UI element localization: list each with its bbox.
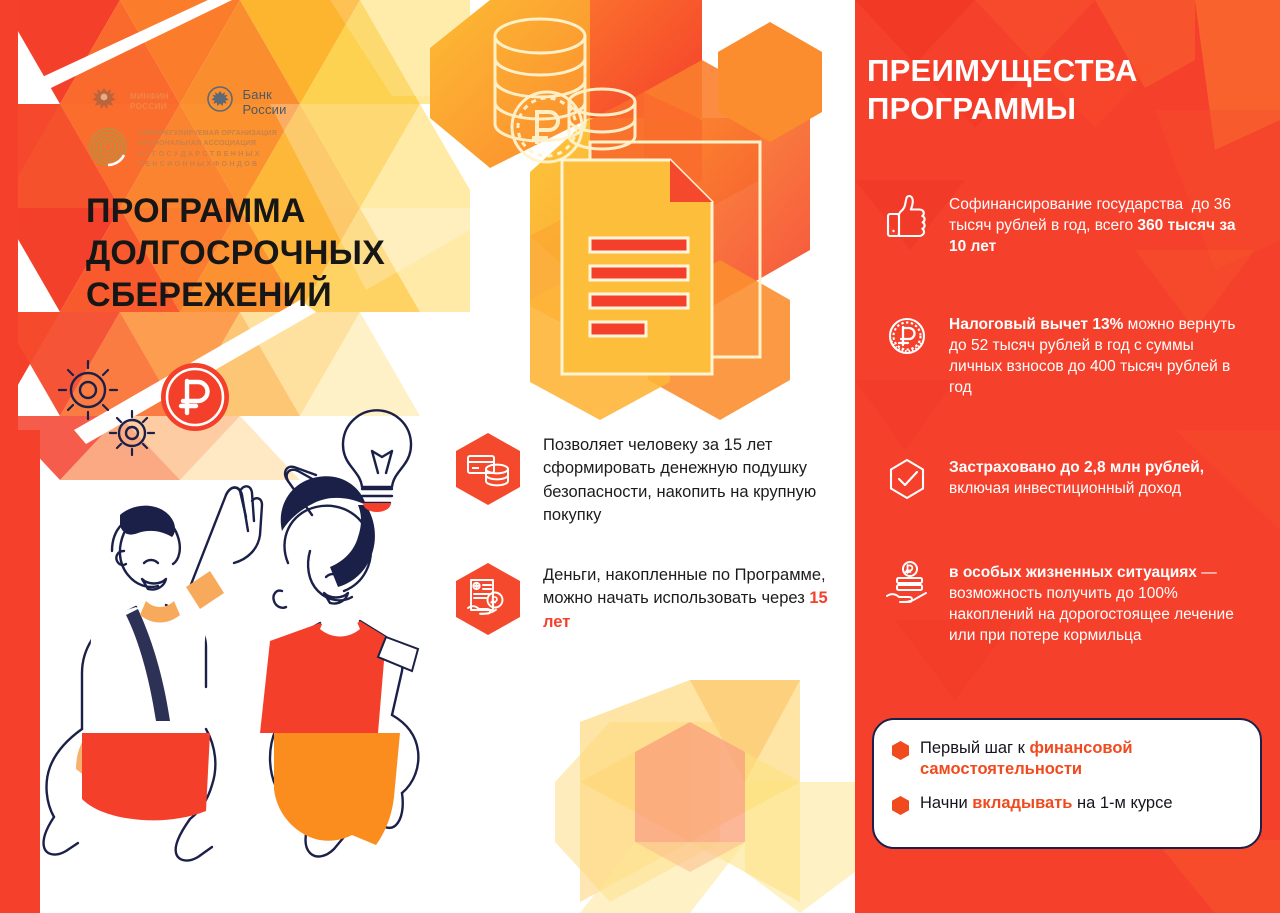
ruble-coin-icon bbox=[885, 312, 931, 364]
bottom-center-mosaic-background bbox=[480, 660, 900, 913]
feature-text: Деньги, накопленные по Программе, можно … bbox=[543, 562, 835, 634]
napf-logo-label: САМОРЕГУЛИРУЕМАЯ ОРГАНИЗАЦИЯ НАЦИОНАЛЬНА… bbox=[138, 129, 277, 170]
page-title: ПРОГРАММА ДОЛГОСРОЧНЫХ СБЕРЕЖЕНИЙ bbox=[86, 190, 486, 316]
logo-group: МИНФИН РОССИИ Банк России bbox=[88, 84, 318, 170]
benefit-text: Налоговый вычет 13% можно вернуть до 52 … bbox=[949, 312, 1237, 398]
hand-with-coins-ruble-icon bbox=[885, 560, 931, 612]
feature-item-access-after-15-years: Деньги, накопленные по Программе, можно … bbox=[455, 562, 835, 636]
hand-with-document-ruble-hex-icon bbox=[455, 562, 521, 636]
two-jumping-students-graphic bbox=[20, 355, 440, 913]
benefit-text: в особых жизненных ситуациях — возможнос… bbox=[949, 560, 1237, 646]
benefit-item-special-situations: в особых жизненных ситуациях — возможнос… bbox=[885, 560, 1237, 646]
feature-item-safety-cushion: Позволяет человеку за 15 лет сформироват… bbox=[455, 432, 835, 528]
callout-item: Начни вкладывать на 1-м курсе bbox=[892, 793, 1240, 815]
callout-item: Первый шаг к финансовой самостоятельност… bbox=[892, 738, 1240, 781]
feature-text: Позволяет человеку за 15 лет сформироват… bbox=[543, 432, 835, 528]
cbr-eagle-emblem-icon bbox=[207, 86, 233, 117]
hexagon-bullet-icon bbox=[892, 741, 909, 760]
benefit-item-tax-deduction: Налоговый вычет 13% можно вернуть до 52 … bbox=[885, 312, 1237, 398]
benefits-title-text: ПРЕИМУЩЕСТВА ПРОГРАММЫ bbox=[867, 52, 1237, 128]
thumbs-up-icon bbox=[885, 192, 931, 244]
callout-text: Начни вкладывать на 1-м курсе bbox=[920, 793, 1173, 814]
center-documents-graphic bbox=[430, 0, 870, 420]
benefit-item-cofinancing: Софинансирование государства до 36 тысяч… bbox=[885, 192, 1237, 257]
callout-text: Первый шаг к финансовой самостоятельност… bbox=[920, 738, 1240, 781]
benefit-item-insured: Застраховано до 2,8 млн рублей, включая … bbox=[885, 455, 1237, 507]
benefits-panel-title: ПРЕИМУЩЕСТВА ПРОГРАММЫ bbox=[867, 52, 1237, 128]
hexagon-bullet-icon bbox=[892, 796, 909, 815]
double-eagle-emblem-icon bbox=[88, 84, 120, 119]
benefit-text: Софинансирование государства до 36 тысяч… bbox=[949, 192, 1237, 257]
cbr-logo-label: Банк России bbox=[243, 87, 318, 117]
callout-box: Первый шаг к финансовой самостоятельност… bbox=[872, 718, 1262, 849]
poster-root: ПРЕИМУЩЕСТВА ПРОГРАММЫ Софинансирование … bbox=[0, 0, 1280, 913]
minfin-logo-label: МИНФИН РОССИИ bbox=[130, 92, 169, 110]
benefit-text: Застраховано до 2,8 млн рублей, включая … bbox=[949, 455, 1237, 499]
hexagon-check-icon bbox=[885, 455, 931, 507]
napf-spiral-emblem-icon bbox=[88, 127, 128, 172]
card-and-coins-hex-icon bbox=[455, 432, 521, 506]
